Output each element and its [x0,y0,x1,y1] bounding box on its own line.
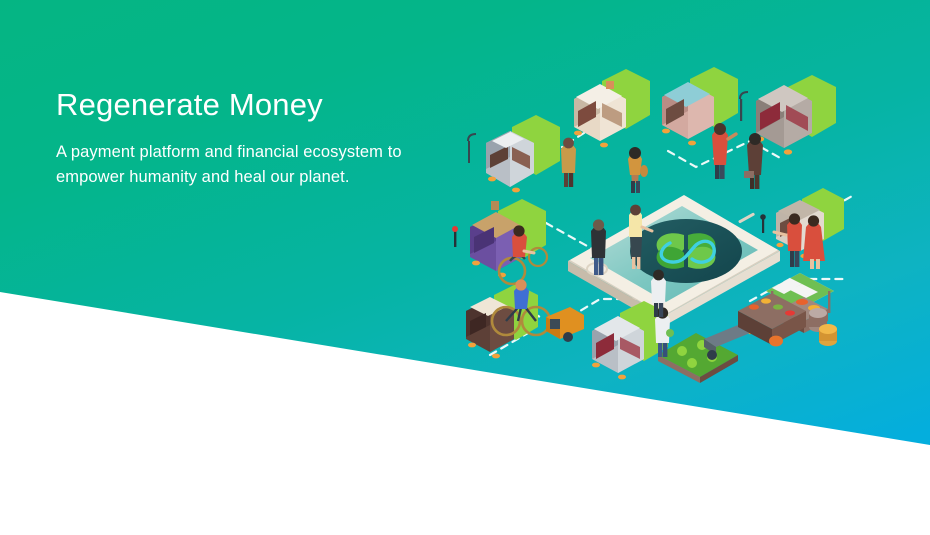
person-figure [628,147,648,193]
isometric-ecosystem-illustration [450,55,930,375]
shop-node-top-left [468,115,560,192]
hero-copy-block: Regenerate Money A payment platform and … [56,88,476,190]
person-figure [561,138,576,187]
hero-section: Regenerate Money A payment platform and … [0,0,930,535]
shop-node-top-center [574,69,650,147]
person-figure [744,133,763,189]
page-title: Regenerate Money [56,88,476,122]
hero-subtitle: A payment platform and financial ecosyst… [56,140,448,190]
person-figure [712,123,736,179]
